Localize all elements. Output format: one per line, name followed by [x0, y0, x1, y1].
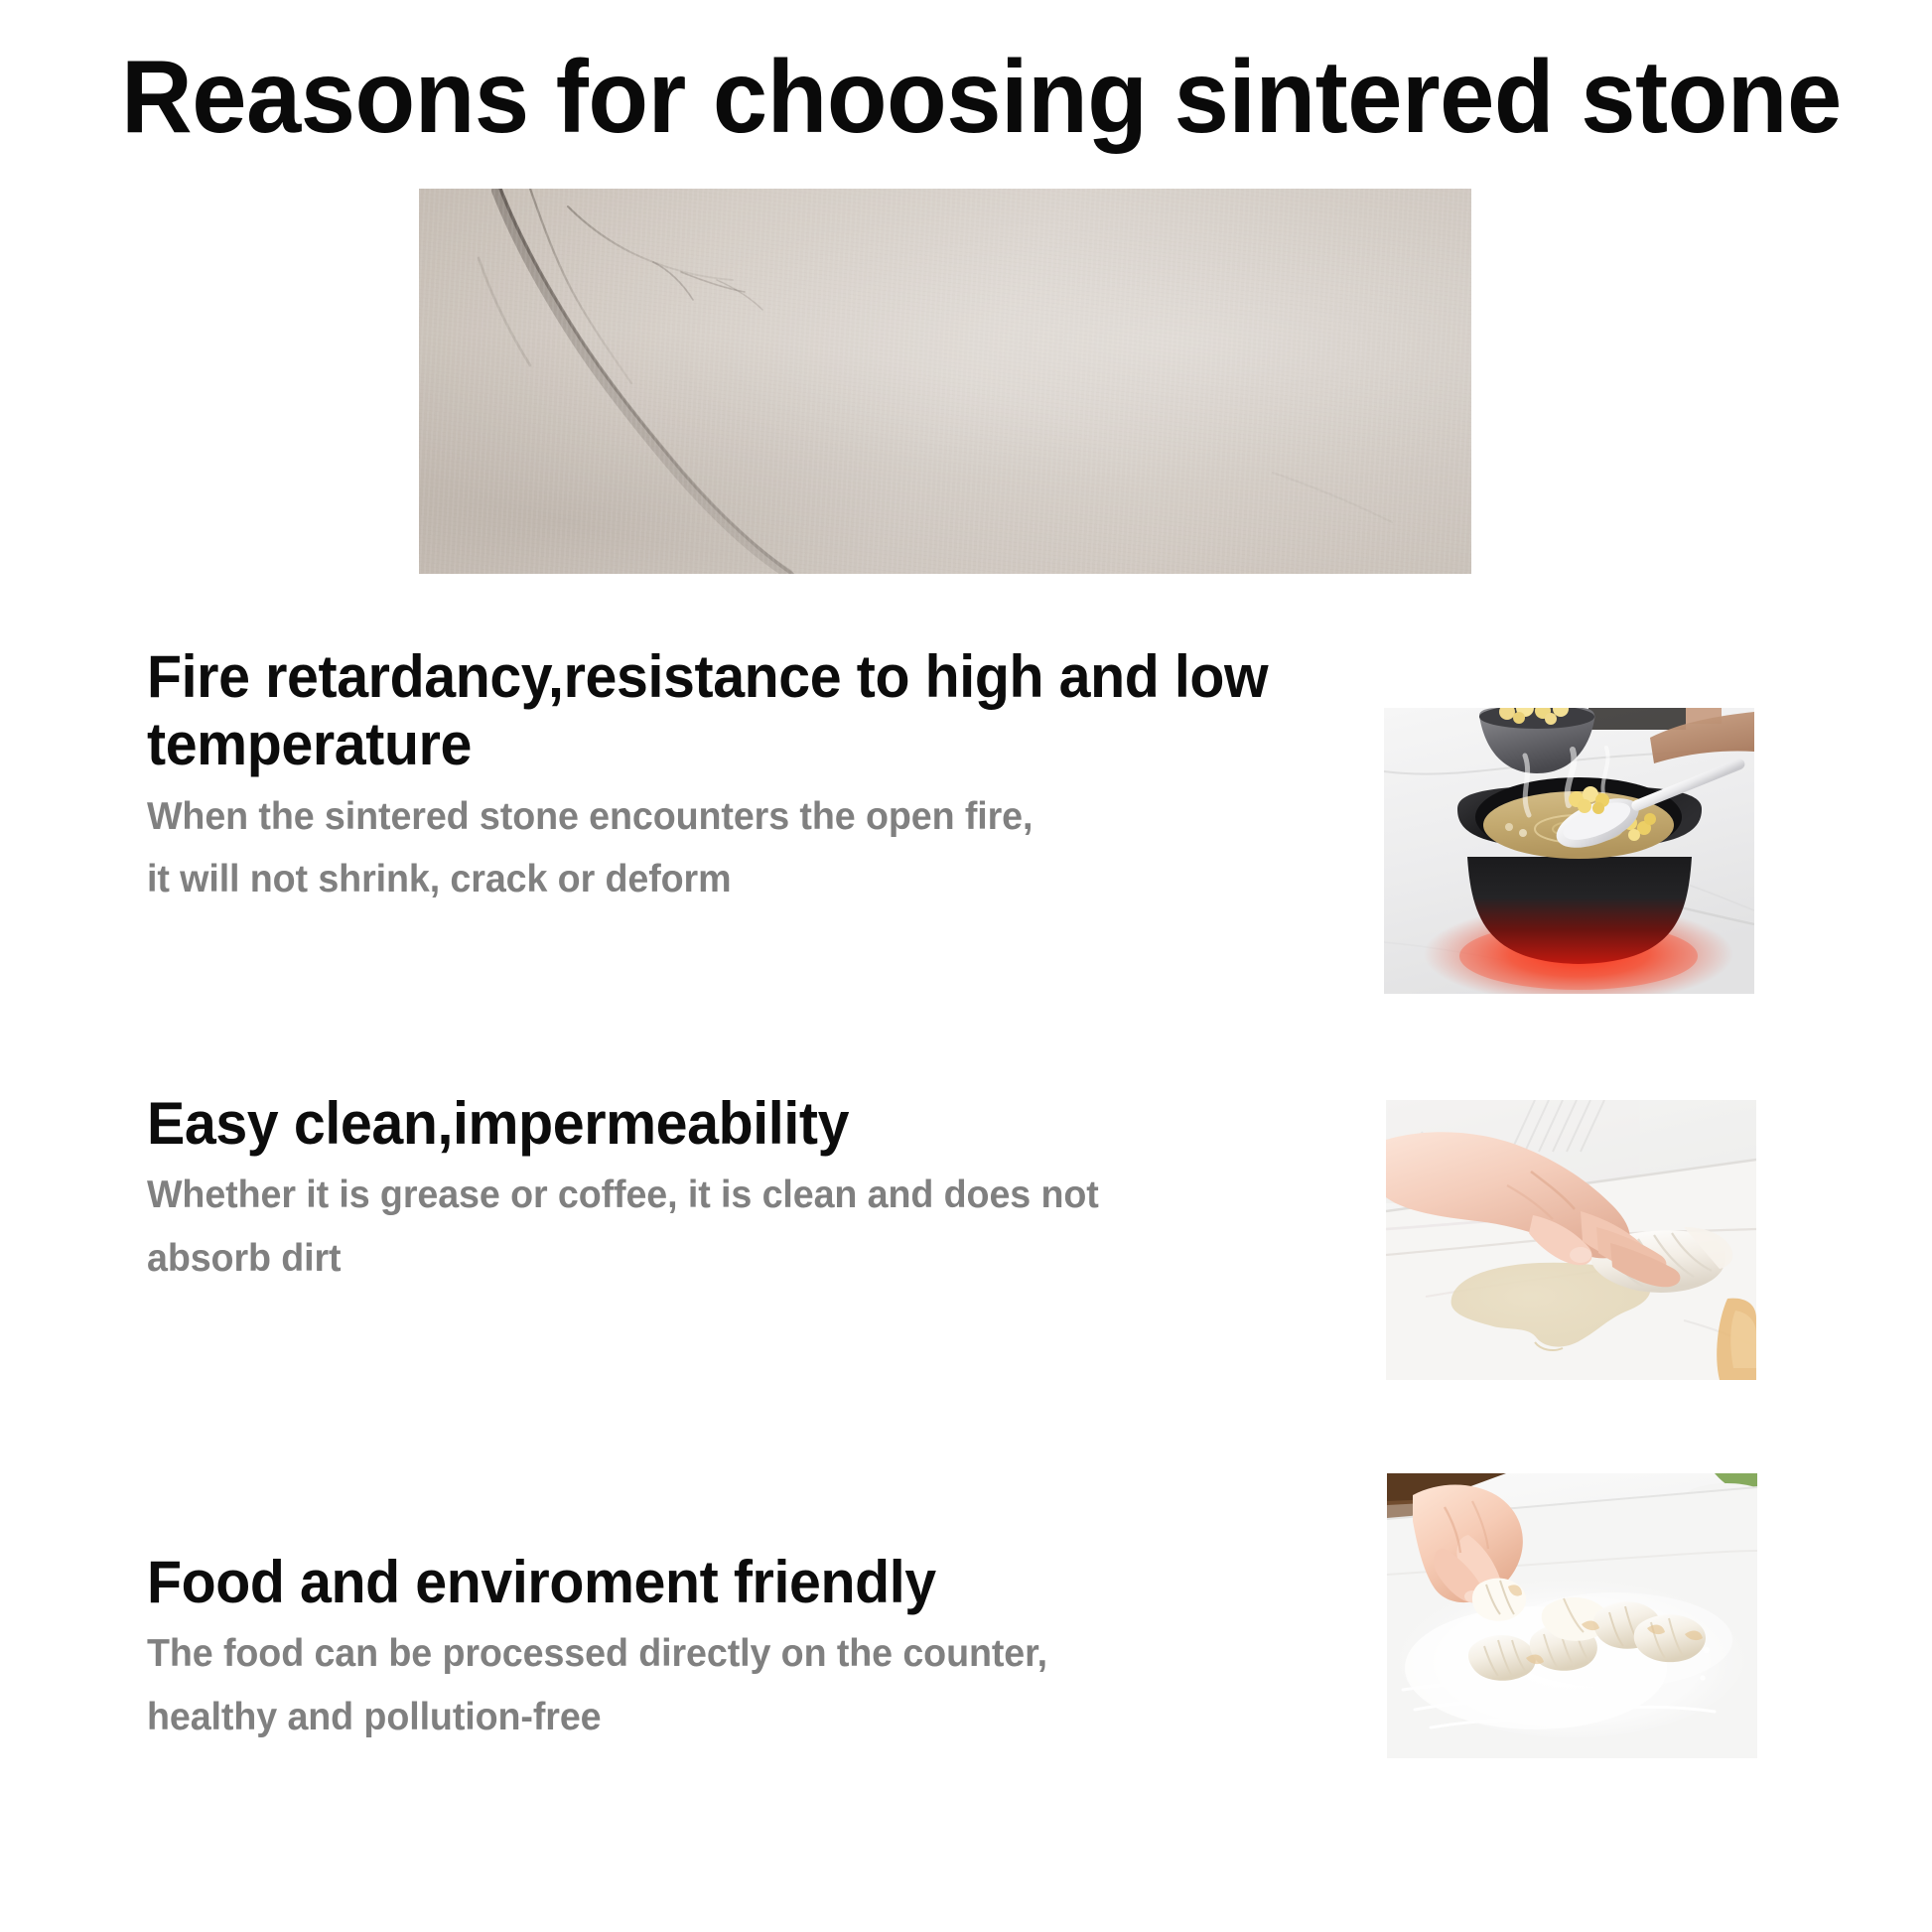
hand-making-dumplings-on-flour-photo: [1387, 1473, 1757, 1758]
feature-heading: Food and enviroment friendly: [147, 1549, 1295, 1616]
feature-heading: Easy clean,impermeability: [147, 1090, 1295, 1158]
feature-body-line-2: absorb dirt: [147, 1227, 1249, 1290]
feature-heading: Fire retardancy,resistance to high and l…: [147, 643, 1295, 779]
feature-text-column: Easy clean,impermeability Whether it is …: [147, 1090, 1348, 1290]
stone-grain-texture: [419, 189, 1471, 574]
feature-body-line-2: healthy and pollution-free: [147, 1686, 1249, 1748]
page-title: Reasons for choosing sintered stone: [121, 46, 1790, 149]
feature-body-line-1: Whether it is grease or coffee, it is cl…: [147, 1164, 1249, 1226]
feature-body-line-1: The food can be processed directly on th…: [147, 1622, 1249, 1685]
sintered-stone-swatch-image: [419, 189, 1471, 574]
feature-text-column: Fire retardancy,resistance to high and l…: [147, 643, 1348, 910]
hand-wiping-spill-photo: [1386, 1100, 1756, 1380]
feature-body-line-1: When the sintered stone encounters the o…: [147, 785, 1249, 848]
feature-body-line-2: it will not shrink, crack or deform: [147, 848, 1249, 910]
feature-text-column: Food and enviroment friendly The food ca…: [147, 1549, 1348, 1748]
hot-pot-on-stone-counter-photo: [1384, 708, 1754, 994]
